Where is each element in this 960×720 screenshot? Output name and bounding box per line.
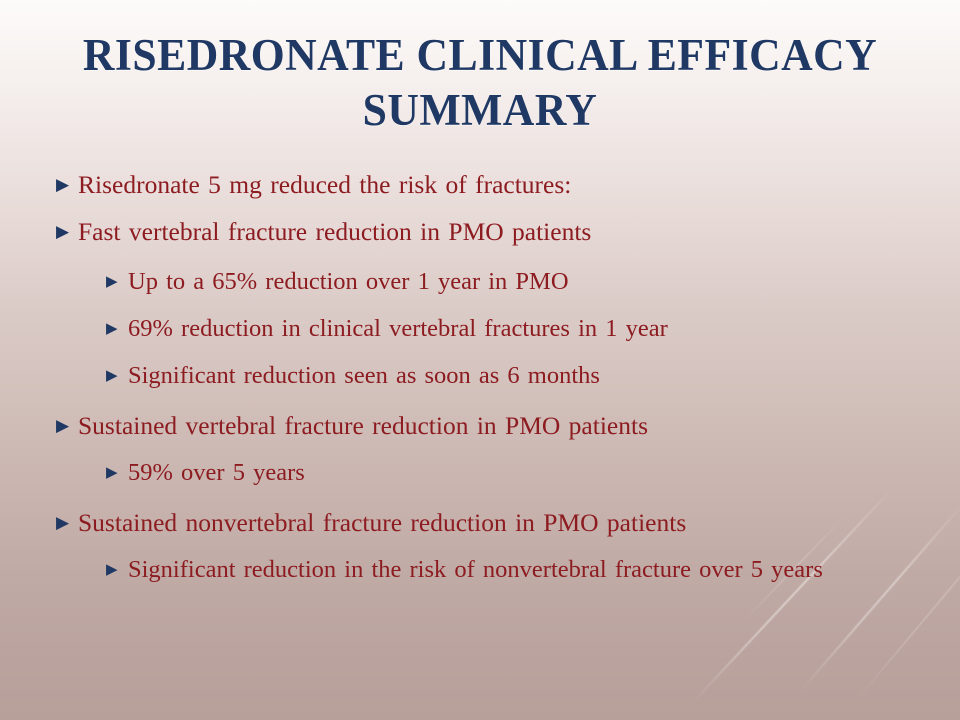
slide-title-line-1: RISEDRONATE CLINICAL EFFICACY bbox=[83, 30, 877, 80]
bullet-triangle-icon: ▶ bbox=[56, 506, 78, 540]
bullet-item: ▶ Significant reduction in the risk of n… bbox=[0, 553, 960, 587]
bullet-item: ▶ Risedronate 5 mg reduced the risk of f… bbox=[0, 168, 960, 202]
bullet-item: ▶ Up to a 65% reduction over 1 year in P… bbox=[0, 265, 960, 299]
bullet-item: ▶ 59% over 5 years bbox=[0, 456, 960, 490]
slide-title-block: RISEDRONATE CLINICAL EFFICACY SUMMARY bbox=[0, 28, 960, 138]
bullet-text: Up to a 65% reduction over 1 year in PMO bbox=[128, 265, 960, 299]
bullet-triangle-icon: ▶ bbox=[106, 265, 128, 299]
presentation-slide: RISEDRONATE CLINICAL EFFICACY SUMMARY ▶ … bbox=[0, 0, 960, 720]
bullet-text: Fast vertebral fracture reduction in PMO… bbox=[78, 215, 960, 249]
bullet-text: 59% over 5 years bbox=[128, 456, 960, 490]
bullet-text: Sustained nonvertebral fracture reductio… bbox=[78, 506, 960, 540]
bullet-text: 69% reduction in clinical vertebral frac… bbox=[128, 312, 960, 346]
bullet-triangle-icon: ▶ bbox=[106, 553, 128, 587]
slide-title-line-2: SUMMARY bbox=[363, 85, 598, 135]
bullet-item: ▶ Sustained vertebral fracture reduction… bbox=[0, 409, 960, 443]
slide-body: ▶ Risedronate 5 mg reduced the risk of f… bbox=[0, 168, 960, 600]
bullet-text: Significant reduction in the risk of non… bbox=[128, 553, 960, 587]
bullet-item: ▶ Significant reduction seen as soon as … bbox=[0, 359, 960, 393]
bullet-triangle-icon: ▶ bbox=[106, 312, 128, 346]
bullet-triangle-icon: ▶ bbox=[106, 359, 128, 393]
bullet-item: ▶ Fast vertebral fracture reduction in P… bbox=[0, 215, 960, 249]
bullet-triangle-icon: ▶ bbox=[56, 168, 78, 202]
bullet-text: Risedronate 5 mg reduced the risk of fra… bbox=[78, 168, 960, 202]
bullet-text: Significant reduction seen as soon as 6 … bbox=[128, 359, 960, 393]
bullet-item: ▶ 69% reduction in clinical vertebral fr… bbox=[0, 312, 960, 346]
bullet-triangle-icon: ▶ bbox=[106, 456, 128, 490]
bullet-triangle-icon: ▶ bbox=[56, 409, 78, 443]
bullet-text: Sustained vertebral fracture reduction i… bbox=[78, 409, 960, 443]
bullet-triangle-icon: ▶ bbox=[56, 215, 78, 249]
slide-title: RISEDRONATE CLINICAL EFFICACY SUMMARY bbox=[14, 28, 945, 138]
bullet-item: ▶ Sustained nonvertebral fracture reduct… bbox=[0, 506, 960, 540]
